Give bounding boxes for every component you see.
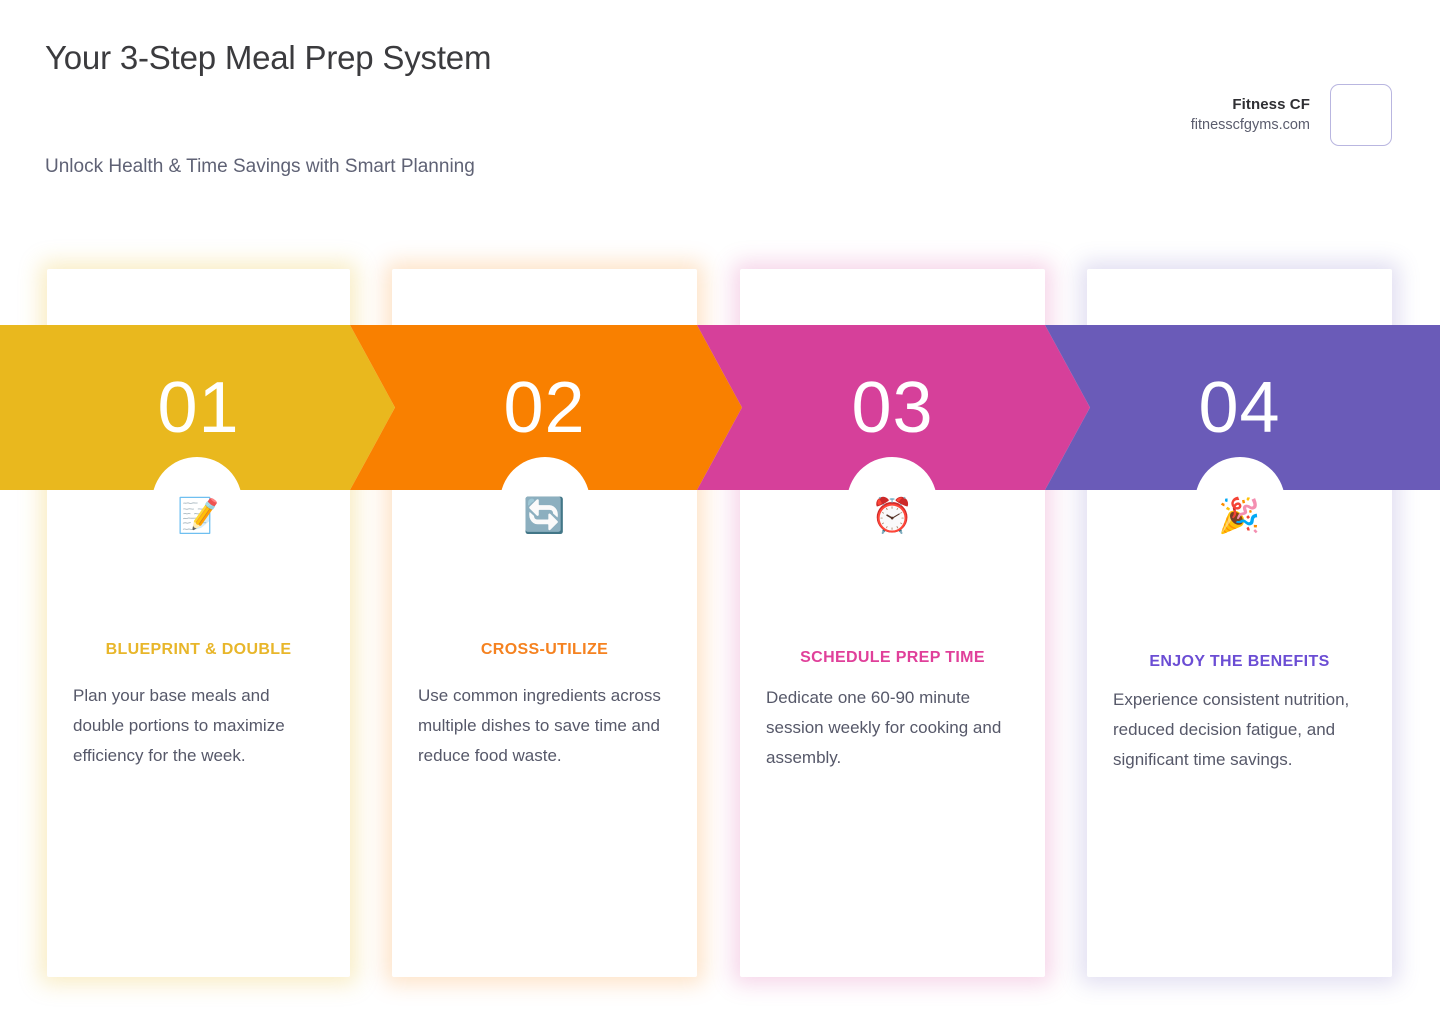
step-body-2: Use common ingredients across multiple d… [392, 681, 697, 771]
step-title-3: SCHEDULE PREP TIME [740, 649, 1045, 667]
step-body-3: Dedicate one 60-90 minute session weekly… [740, 683, 1045, 773]
page-title: Your 3-Step Meal Prep System [45, 33, 665, 83]
step-body-4: Experience consistent nutrition, reduced… [1087, 685, 1392, 775]
brand-logo-placeholder [1330, 84, 1392, 146]
infographic-page: Your 3-Step Meal Prep System Unlock Heal… [0, 0, 1440, 1024]
page-subtitle: Unlock Health & Time Savings with Smart … [45, 153, 475, 181]
recycle-arrows-icon: 🔄 [392, 495, 697, 547]
step-content-2: 🔄 CROSS-UTILIZE Use common ingredients a… [392, 495, 697, 771]
step-title-2: CROSS-UTILIZE [392, 641, 697, 659]
brand-block: Fitness CF fitnesscfgyms.com [1191, 84, 1392, 146]
step-title-4: ENJOY THE BENEFITS [1087, 653, 1392, 671]
brand-name: Fitness CF [1191, 95, 1310, 114]
alarm-clock-icon: ⏰ [740, 495, 1045, 547]
step-body-1: Plan your base meals and double portions… [47, 681, 350, 771]
memo-icon: 📝 [47, 495, 350, 547]
brand-text: Fitness CF fitnesscfgyms.com [1191, 95, 1310, 135]
step-content-3: ⏰ SCHEDULE PREP TIME Dedicate one 60-90 … [740, 495, 1045, 773]
step-title-1: BLUEPRINT & DOUBLE [47, 641, 350, 659]
step-content-4: 🎉 ENJOY THE BENEFITS Experience consiste… [1087, 495, 1392, 775]
brand-url: fitnesscfgyms.com [1191, 116, 1310, 135]
step-content-1: 📝 BLUEPRINT & DOUBLE Plan your base meal… [47, 495, 350, 771]
party-popper-icon: 🎉 [1087, 495, 1392, 547]
